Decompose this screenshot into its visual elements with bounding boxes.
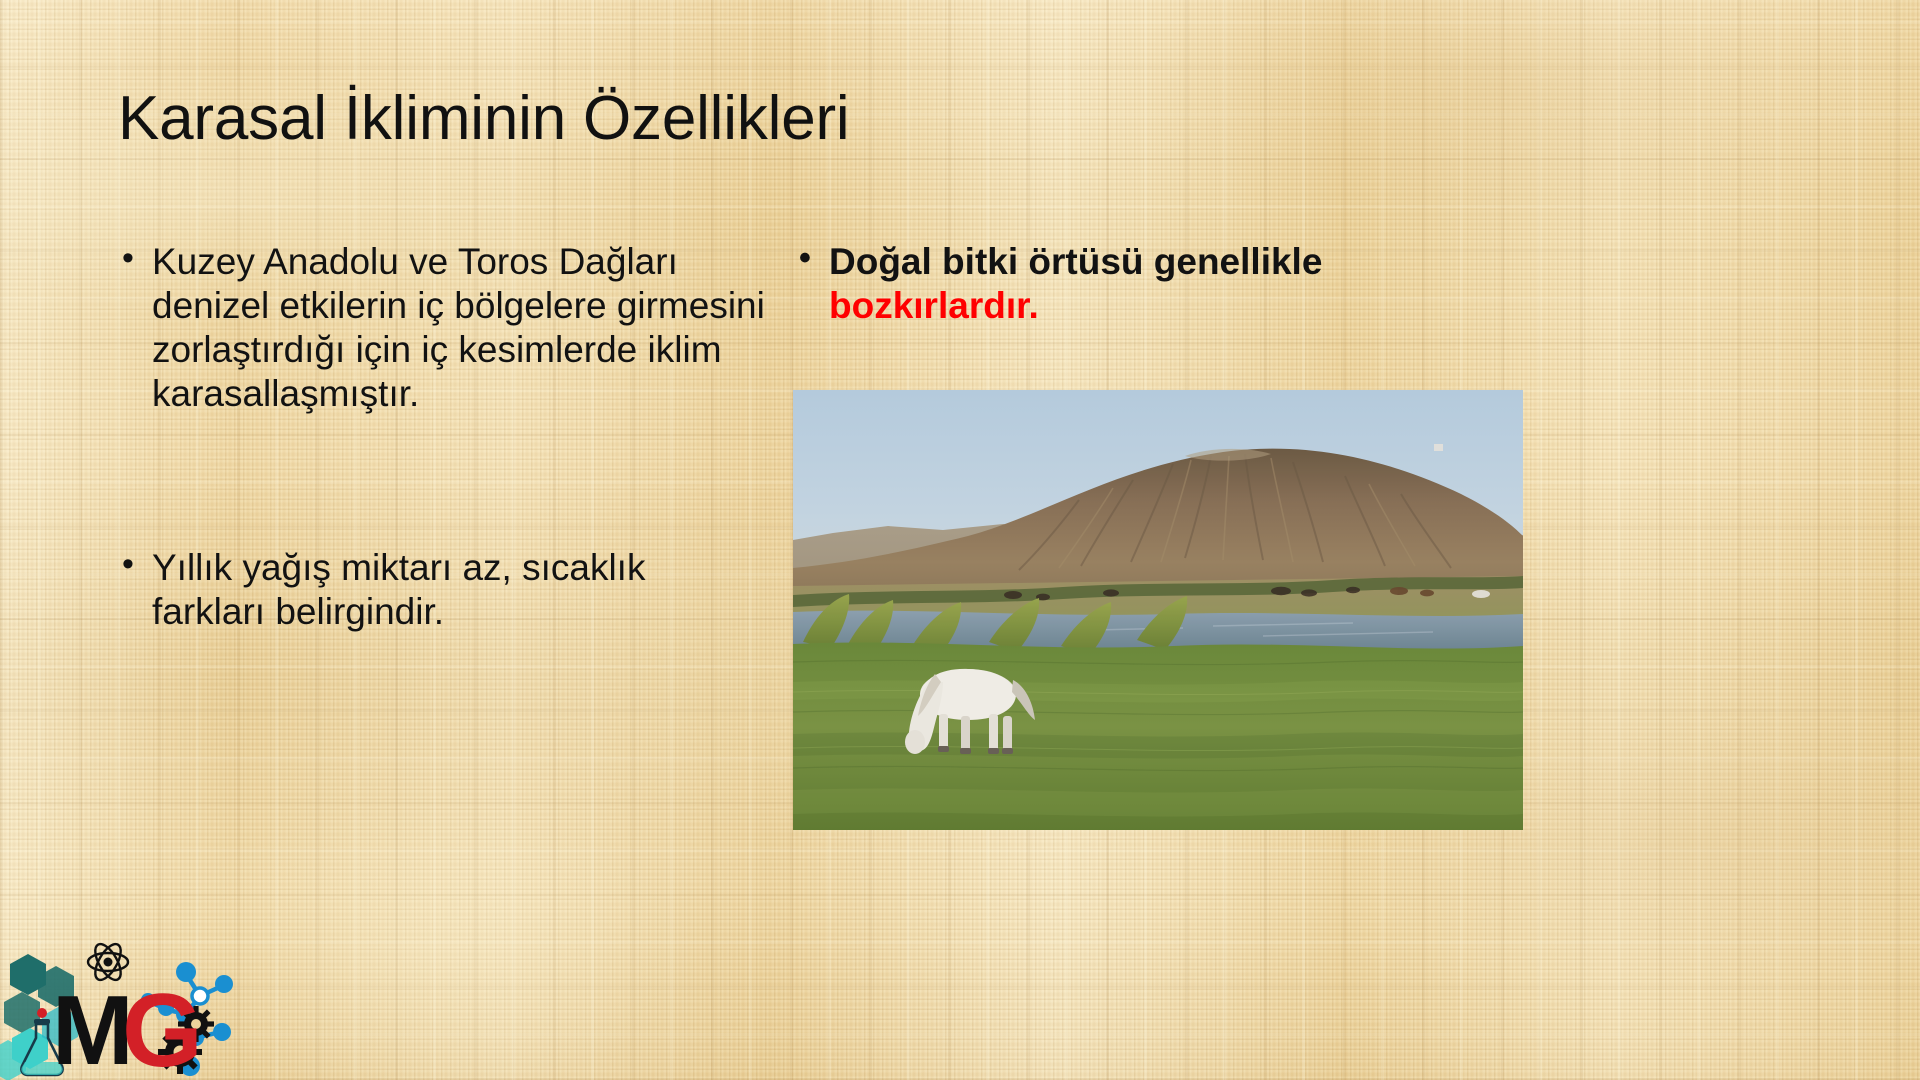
right-bullet-lead-text: Doğal bitki örtüsü genellikle xyxy=(829,241,1322,282)
list-item: Doğal bitki örtüsü genellikle bozkırlard… xyxy=(795,240,1515,328)
steppe-landscape-photo xyxy=(793,390,1523,830)
slide-title: Karasal İkliminin Özellikleri xyxy=(118,84,1758,153)
logo-letter-g: G xyxy=(122,973,203,1080)
slide-canvas: Karasal İkliminin Özellikleri Kuzey Anad… xyxy=(0,0,1920,1080)
right-bullet-list: Doğal bitki örtüsü genellikle bozkırlard… xyxy=(795,240,1535,328)
list-item: Yıllık yağış miktarı az, sıcaklık farkla… xyxy=(118,546,738,634)
mg-science-logo: M G xyxy=(0,940,240,1080)
list-item: Kuzey Anadolu ve Toros Dağları denizel e… xyxy=(118,240,783,416)
mg-science-logo-graphic: M G xyxy=(0,940,240,1080)
steppe-landscape-photo-graphic xyxy=(793,390,1523,830)
left-bullet-list: Kuzey Anadolu ve Toros Dağları denizel e… xyxy=(118,240,798,634)
right-bullet-accent-text: bozkırlardır. xyxy=(829,285,1039,326)
